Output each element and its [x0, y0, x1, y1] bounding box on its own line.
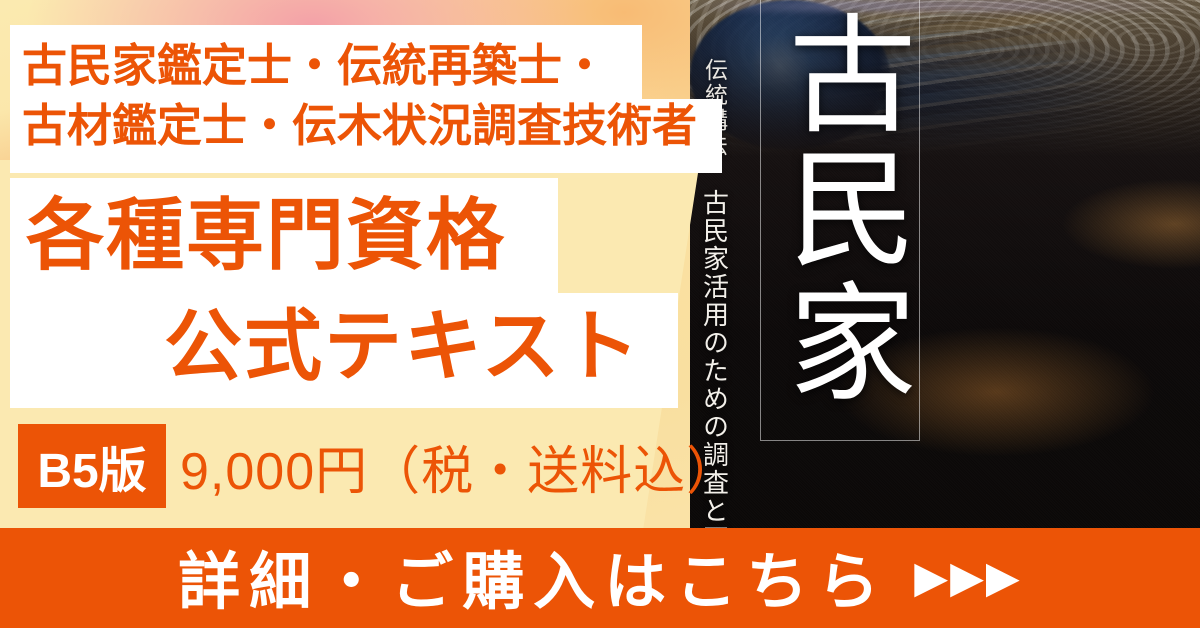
sub-headline-line-2: 古材鑑定士・伝木状況調査技術者	[22, 96, 722, 156]
main-headline-line-1: 各種専門資格	[12, 180, 692, 291]
promo-banner: 古民家 伝統構法 古民家活用のための調査と再生の 古民家鑑定士・伝統再築士・ 古…	[0, 0, 1200, 628]
sub-headline-line-1: 古民家鑑定士・伝統再築士・	[22, 36, 722, 96]
price-amount: 9,000円（税・送料込）	[180, 424, 739, 508]
chevron-right-triple-icon[interactable]: ▶▶▶	[914, 556, 1022, 600]
photo-grain	[690, 0, 1200, 560]
book-cover-photo	[690, 0, 1200, 560]
sub-headline: 古民家鑑定士・伝統再築士・ 古材鑑定士・伝木状況調査技術者	[22, 36, 722, 156]
main-headline: 各種専門資格 公式テキスト	[12, 180, 692, 402]
main-headline-line-2: 公式テキスト	[12, 291, 692, 402]
cta-bar[interactable]: 詳細・ご購入はこちら ▶▶▶	[0, 528, 1200, 628]
cta-inner[interactable]: 詳細・ご購入はこちら ▶▶▶	[178, 531, 1022, 621]
cta-label[interactable]: 詳細・ご購入はこちら	[178, 531, 888, 621]
format-badge-b5: B5版	[18, 424, 166, 508]
book-cover-title: 古民家	[775, 8, 905, 410]
